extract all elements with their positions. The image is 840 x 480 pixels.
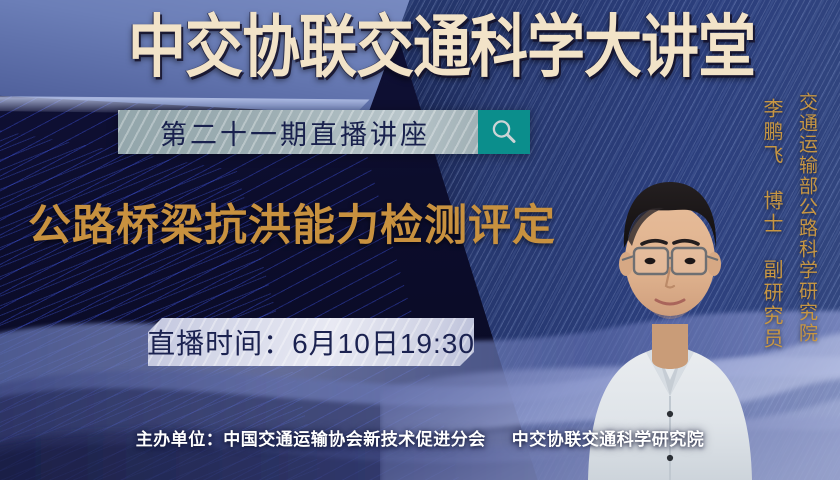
live-time-text: 直播时间：6月10日19:30 (148, 322, 474, 362)
footer-organizer-primary: 主办单位：中国交通运输协会新技术促进分会 (136, 430, 486, 449)
poster-title: 中交协联交通科学大讲堂 (128, 14, 728, 82)
episode-label-field[interactable]: 第二十一期直播讲座 (118, 110, 478, 154)
speaker-name-title: 李鹏飞 博士 副研究员 (757, 98, 786, 351)
episode-label: 第二十一期直播讲座 (118, 113, 478, 152)
speaker-organization: 交通运输部公路科学研究院 (793, 92, 820, 344)
live-time-badge: 直播时间：6月10日19:30 (148, 318, 474, 366)
search-button[interactable] (478, 110, 530, 154)
lecture-headline: 公路桥梁抗洪能力检测评定 (28, 205, 556, 248)
footer-organizer-secondary: 中交协联交通科学研究院 (512, 430, 705, 449)
footer-organizers: 主办单位：中国交通运输协会新技术促进分会中交协联交通科学研究院 (0, 425, 840, 450)
episode-search-bar[interactable]: 第二十一期直播讲座 (118, 110, 530, 154)
search-icon (489, 117, 519, 147)
poster-canvas: 中交协联交通科学大讲堂 第二十一期直播讲座 公路桥梁抗洪能力检测评定 直播时间：… (0, 0, 840, 480)
